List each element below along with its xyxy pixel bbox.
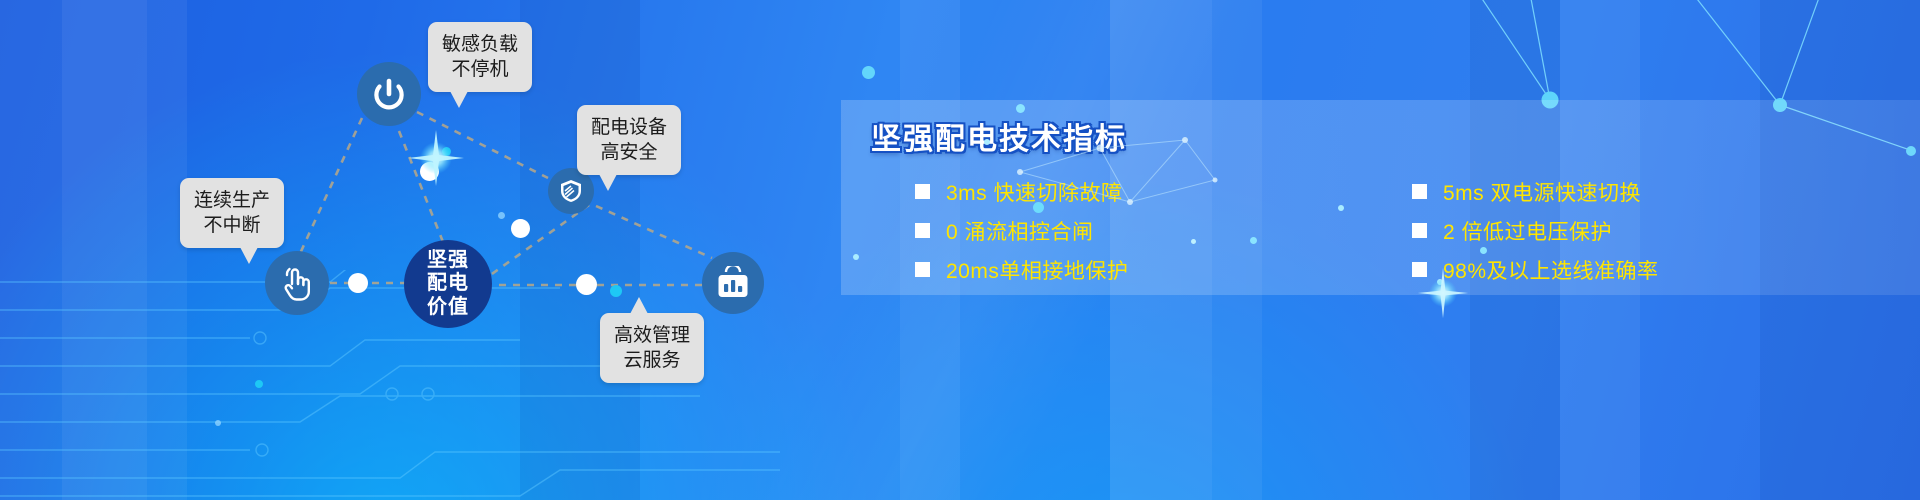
decor-dot — [1338, 205, 1344, 211]
spec-label: 20ms单相接地保护 — [946, 255, 1128, 285]
callout-line: 高效管理 — [614, 323, 690, 348]
callout-line: 高安全 — [591, 140, 667, 165]
callout-line: 不停机 — [442, 57, 518, 82]
callout-continuous-production[interactable]: 连续生产 不中断 — [180, 178, 284, 248]
bullet-square-icon — [1412, 262, 1427, 277]
link-node-dot — [511, 219, 530, 238]
link-node-dot — [576, 274, 597, 295]
bullet-square-icon — [1412, 184, 1427, 199]
spec-item: 5ms 双电源快速切换 — [1408, 172, 1905, 211]
banner-stage: 坚强 配电 价值 敏感负载 不停机 配电设备 高安全 连续生产 不中断 高效管理… — [0, 0, 1920, 500]
decor-dot — [1191, 239, 1196, 244]
link-node-dot — [348, 273, 368, 293]
decor-dot — [984, 139, 990, 145]
center-node-line-2: 配电 — [427, 272, 469, 296]
decor-dot — [610, 285, 622, 297]
node-power[interactable] — [357, 62, 421, 126]
decor-dot — [442, 147, 451, 156]
value-diagram: 坚强 配电 价值 敏感负载 不停机 配电设备 高安全 连续生产 不中断 高效管理… — [0, 0, 860, 500]
spec-item: 20ms单相接地保护 — [915, 250, 1408, 289]
center-node[interactable]: 坚强 配电 价值 — [404, 240, 492, 328]
callout-line: 云服务 — [614, 348, 690, 373]
link-node-dot — [420, 162, 439, 181]
decor-dot — [215, 420, 221, 426]
callout-equipment-safety[interactable]: 配电设备 高安全 — [577, 105, 681, 175]
node-hand-click[interactable] — [265, 251, 329, 315]
decor-dot — [862, 66, 875, 79]
decor-dot — [1250, 237, 1257, 244]
panel-network-decoration — [1010, 110, 1240, 220]
decor-dot — [255, 380, 263, 388]
power-icon — [371, 76, 407, 112]
bullet-square-icon — [915, 223, 930, 238]
spec-label: 0 涌流相控合闸 — [946, 216, 1094, 246]
bullet-square-icon — [915, 262, 930, 277]
tech-spec-panel: 坚强配电技术指标 3ms 快速切除故障 5ms 双电源快速切换 0 涌流相控合闸 — [841, 100, 1920, 295]
spec-label: 2 倍低过电压保护 — [1443, 216, 1612, 246]
callout-line: 敏感负载 — [442, 32, 518, 57]
decor-dot — [498, 212, 505, 219]
center-node-line-1: 坚强 — [427, 249, 469, 273]
spec-item: 98%及以上选线准确率 — [1408, 250, 1905, 289]
spec-label: 5ms 双电源快速切换 — [1443, 177, 1641, 207]
decor-dot — [1480, 247, 1487, 254]
bullet-square-icon — [915, 184, 930, 199]
callout-line: 配电设备 — [591, 115, 667, 140]
decor-dot — [1437, 279, 1443, 285]
hand-click-icon — [279, 264, 315, 302]
spec-label: 98%及以上选线准确率 — [1443, 255, 1659, 285]
bar-chart-icon — [716, 266, 750, 300]
spec-row: 20ms单相接地保护 98%及以上选线准确率 — [915, 250, 1905, 289]
center-node-line-3: 价值 — [427, 296, 469, 320]
spec-item: 2 倍低过电压保护 — [1408, 211, 1905, 250]
callout-sensitive-load[interactable]: 敏感负载 不停机 — [428, 22, 532, 92]
shield-icon — [558, 178, 584, 204]
callout-line: 连续生产 — [194, 188, 270, 213]
bullet-square-icon — [1412, 223, 1427, 238]
callout-cloud-service[interactable]: 高效管理 云服务 — [600, 313, 704, 383]
decor-dot — [853, 254, 859, 260]
node-bar-chart[interactable] — [702, 252, 764, 314]
callout-line: 不中断 — [194, 213, 270, 238]
